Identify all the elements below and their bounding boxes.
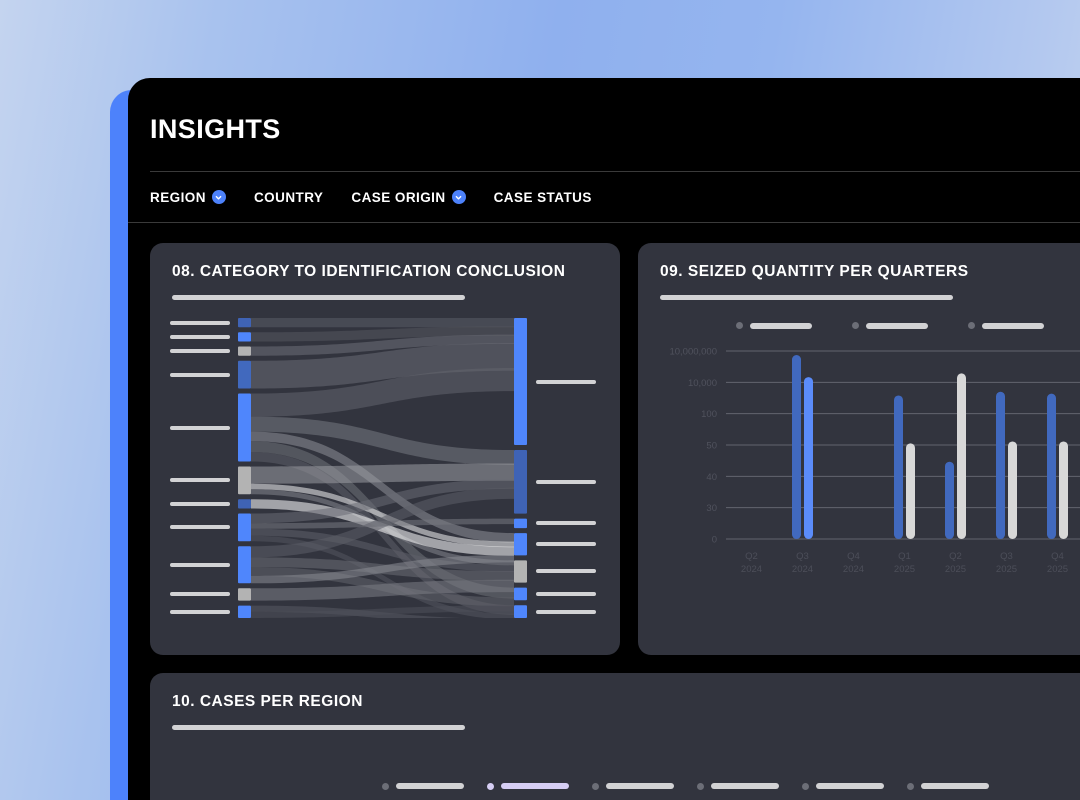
sankey-source-label: [170, 502, 230, 506]
x-axis-tick-label: Q3: [1000, 551, 1013, 562]
sankey-source-label: [170, 610, 230, 614]
title-placeholder-bar: [660, 295, 953, 300]
bar[interactable]: [1059, 441, 1068, 539]
x-axis-tick-label: 2025: [996, 564, 1017, 575]
header: INSIGHTS: [128, 78, 1080, 172]
legend-label-bar: [750, 323, 812, 329]
title-placeholder-bar: [172, 295, 465, 300]
legend-item[interactable]: [852, 322, 928, 329]
x-axis-tick-label: 2025: [945, 564, 966, 575]
legend-item[interactable]: [802, 783, 907, 790]
sankey-source-label: [170, 335, 230, 339]
sankey-source-label: [170, 426, 230, 430]
y-axis-tick-label: 10,000,000: [669, 347, 717, 358]
legend-label-bar: [921, 783, 989, 789]
chevron-down-icon[interactable]: [452, 190, 466, 204]
dashboard-grid: 08. CATEGORY TO IDENTIFICATION CONCLUSIO…: [128, 223, 1080, 800]
sankey-source-label: [170, 321, 230, 325]
legend-dot: [852, 322, 859, 329]
sankey-source-label: [170, 373, 230, 377]
bar-chart[interactable]: 10,000,00010,0001005040300Q22024Q32024Q4…: [660, 343, 1080, 593]
card-category-to-identification-conclusion[interactable]: 08. CATEGORY TO IDENTIFICATION CONCLUSIO…: [150, 243, 620, 655]
x-axis-tick-label: Q2: [949, 551, 962, 562]
legend-item[interactable]: [968, 322, 1044, 329]
legend-label-bar: [606, 783, 674, 789]
bar[interactable]: [1008, 441, 1017, 539]
legend-item[interactable]: [487, 783, 592, 790]
bar[interactable]: [906, 443, 915, 539]
region-legend-grid[interactable]: [382, 772, 1080, 800]
title-placeholder-bar: [172, 725, 465, 730]
legend-label-bar: [501, 783, 569, 789]
legend-dot: [697, 783, 704, 790]
legend-dot: [487, 783, 494, 790]
y-axis-tick-label: 30: [706, 503, 717, 514]
filter-region[interactable]: REGION: [150, 190, 226, 205]
sankey-target-label: [536, 542, 596, 546]
chart-legend[interactable]: [660, 322, 1080, 329]
x-axis-tick-label: 2024: [843, 564, 864, 575]
sankey-target-label: [536, 569, 596, 573]
legend-item[interactable]: [592, 783, 697, 790]
legend-dot: [907, 783, 914, 790]
bar[interactable]: [792, 355, 801, 539]
legend-item[interactable]: [907, 783, 1012, 790]
filter-label: REGION: [150, 190, 206, 205]
bar-chart-svg: 10,000,00010,0001005040300Q22024Q32024Q4…: [660, 343, 1080, 593]
sankey-diagram[interactable]: [172, 318, 620, 618]
dashboard-row-top: 08. CATEGORY TO IDENTIFICATION CONCLUSIO…: [150, 243, 1080, 655]
x-axis-tick-label: 2025: [894, 564, 915, 575]
sankey-target-label: [536, 380, 596, 384]
sankey-target-label: [536, 610, 596, 614]
legend-label-bar: [711, 783, 779, 789]
chevron-down-icon[interactable]: [212, 190, 226, 204]
y-axis-tick-label: 50: [706, 441, 717, 452]
y-axis-tick-label: 10,000: [688, 378, 717, 389]
page-title: INSIGHTS: [150, 114, 1080, 145]
sankey-target-label: [536, 592, 596, 596]
filter-country[interactable]: COUNTRY: [254, 190, 323, 205]
sankey-target-label: [536, 521, 596, 525]
legend-label-bar: [982, 323, 1044, 329]
bar[interactable]: [957, 373, 966, 539]
legend-item[interactable]: [736, 322, 812, 329]
x-axis-tick-label: Q2: [745, 551, 758, 562]
y-axis-tick-label: 0: [712, 535, 717, 546]
filter-label: CASE ORIGIN: [351, 190, 445, 205]
x-axis-tick-label: Q4: [1051, 551, 1064, 562]
filter-label: CASE STATUS: [494, 190, 592, 205]
sankey-source-label: [170, 563, 230, 567]
x-axis-tick-label: 2024: [741, 564, 762, 575]
legend-label-bar: [396, 783, 464, 789]
card-title: 09. SEIZED QUANTITY PER QUARTERS: [660, 263, 1080, 281]
sankey-source-label: [170, 349, 230, 353]
sankey-source-label: [170, 478, 230, 482]
card-seized-quantity-per-quarters[interactable]: 09. SEIZED QUANTITY PER QUARTERS 10,000,…: [638, 243, 1080, 655]
x-axis-tick-label: Q3: [796, 551, 809, 562]
app-window: INSIGHTS REGIONCOUNTRYCASE ORIGINCASE ST…: [128, 78, 1080, 800]
filter-bar: REGIONCOUNTRYCASE ORIGINCASE STATUS: [128, 172, 1080, 222]
card-title: 10. CASES PER REGION: [172, 693, 1080, 711]
bar[interactable]: [945, 462, 954, 539]
legend-label-bar: [816, 783, 884, 789]
legend-dot: [382, 783, 389, 790]
bar[interactable]: [1047, 394, 1056, 539]
card-cases-per-region[interactable]: 10. CASES PER REGION: [150, 673, 1080, 800]
legend-item[interactable]: [382, 783, 487, 790]
legend-dot: [968, 322, 975, 329]
legend-item[interactable]: [697, 783, 802, 790]
sankey-source-label: [170, 525, 230, 529]
legend-label-bar: [866, 323, 928, 329]
x-axis-tick-label: Q1: [898, 551, 911, 562]
bar[interactable]: [894, 395, 903, 539]
bar[interactable]: [996, 392, 1005, 539]
sankey-target-label: [536, 480, 596, 484]
legend-dot: [802, 783, 809, 790]
card-title: 08. CATEGORY TO IDENTIFICATION CONCLUSIO…: [172, 263, 598, 281]
x-axis-tick-label: 2025: [1047, 564, 1068, 575]
x-axis-tick-label: 2024: [792, 564, 813, 575]
filter-case-origin[interactable]: CASE ORIGIN: [351, 190, 465, 205]
filter-case-status[interactable]: CASE STATUS: [494, 190, 592, 205]
bar[interactable]: [804, 377, 813, 539]
legend-dot: [592, 783, 599, 790]
y-axis-tick-label: 100: [701, 409, 717, 420]
legend-dot: [736, 322, 743, 329]
filter-label: COUNTRY: [254, 190, 323, 205]
sankey-source-label: [170, 592, 230, 596]
y-axis-tick-label: 40: [706, 472, 717, 483]
x-axis-tick-label: Q4: [847, 551, 860, 562]
